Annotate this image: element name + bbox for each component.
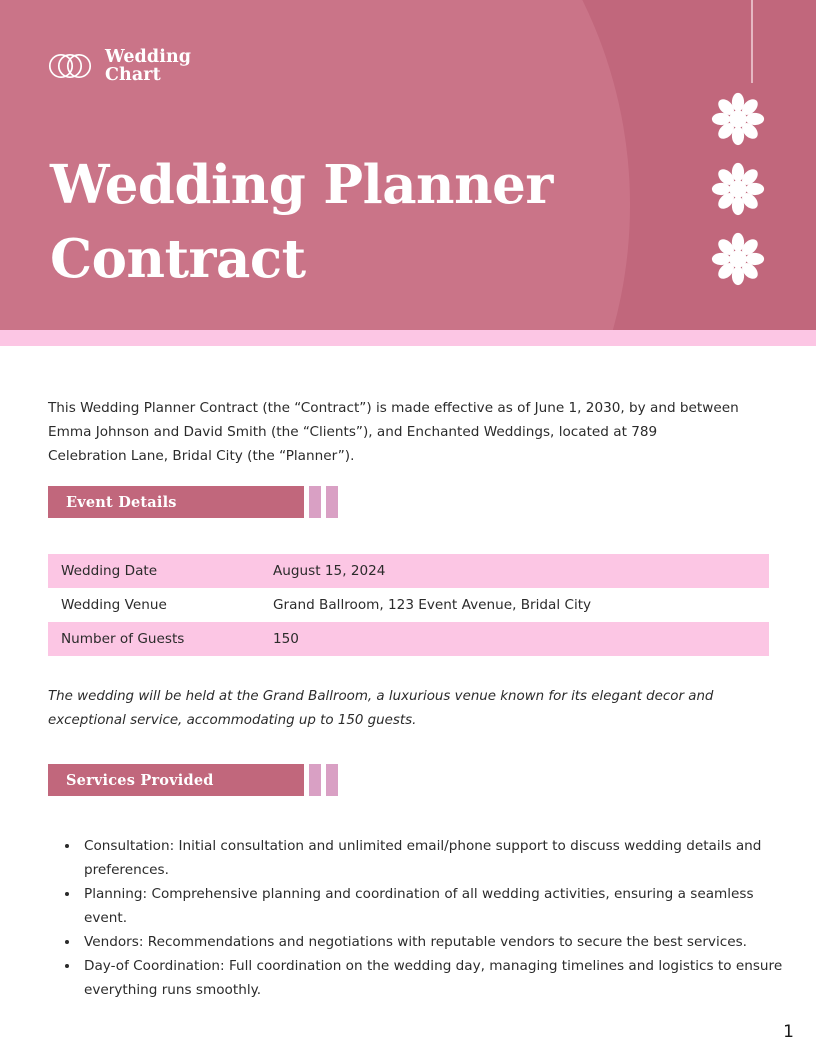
intro-paragraph: This Wedding Planner Contract (the “Cont… [48, 396, 740, 468]
flower-icon [709, 160, 767, 218]
section-heading-services-provided: Services Provided [48, 764, 338, 796]
services-list: Consultation: Initial consultation and u… [48, 834, 800, 1002]
flower-icon [709, 230, 767, 288]
table-row: Wedding Date August 15, 2024 [48, 554, 769, 588]
table-cell-value: August 15, 2024 [266, 554, 769, 588]
header-accent-strip [0, 330, 816, 346]
accent-bar [309, 486, 321, 518]
table-row: Wedding Venue Grand Ballroom, 123 Event … [48, 588, 769, 622]
accent-bar [326, 764, 338, 796]
decoration-hanging-line [751, 0, 753, 83]
list-item: Vendors: Recommendations and negotiation… [80, 930, 800, 954]
header-flower-decoration [690, 0, 816, 330]
table-cell-key: Wedding Date [48, 554, 266, 588]
brand-logo-line2: Chart [105, 66, 191, 84]
section-heading-bar: Services Provided [48, 764, 304, 796]
section-heading-bar: Event Details [48, 486, 304, 518]
section-heading-label: Event Details [48, 494, 177, 511]
document-header-banner: Wedding Chart Wedding Planner Contract [0, 0, 816, 330]
brand-logo-text: Wedding Chart [105, 48, 191, 84]
list-item: Planning: Comprehensive planning and coo… [80, 882, 800, 930]
three-interlocking-rings-icon [48, 49, 94, 83]
venue-note: The wedding will be held at the Grand Ba… [48, 685, 748, 733]
page-title-line2: Contract [50, 222, 650, 296]
table-row: Number of Guests 150 [48, 622, 769, 656]
table-cell-key: Wedding Venue [48, 588, 266, 622]
page-title: Wedding Planner Contract [50, 148, 650, 296]
table-cell-value: Grand Ballroom, 123 Event Avenue, Bridal… [266, 588, 769, 622]
section-heading-event-details: Event Details [48, 486, 338, 518]
accent-bar [309, 764, 321, 796]
event-details-table: Wedding Date August 15, 2024 Wedding Ven… [48, 554, 769, 656]
accent-bar [326, 486, 338, 518]
list-item: Consultation: Initial consultation and u… [80, 834, 800, 882]
flower-icon [709, 90, 767, 148]
brand-logo-line1: Wedding [105, 48, 191, 66]
page-number: 1 [783, 1022, 794, 1042]
brand-logo: Wedding Chart [48, 48, 191, 84]
table-cell-key: Number of Guests [48, 622, 266, 656]
page-title-line1: Wedding Planner [50, 148, 650, 222]
list-item: Day-of Coordination: Full coordination o… [80, 954, 800, 1002]
section-heading-label: Services Provided [48, 772, 214, 789]
table-cell-value: 150 [266, 622, 769, 656]
